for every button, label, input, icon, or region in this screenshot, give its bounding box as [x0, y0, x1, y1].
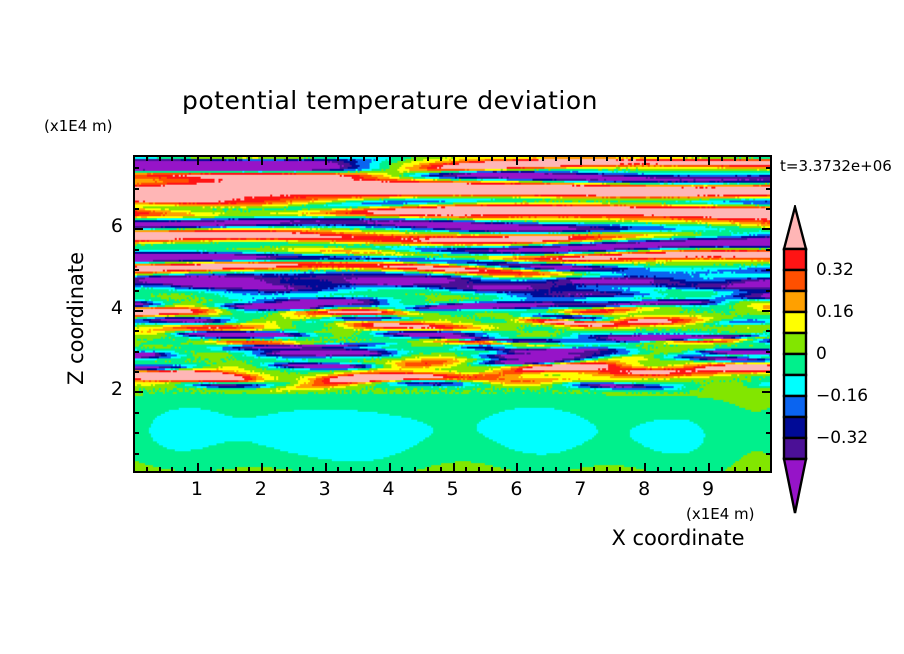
x-axis-minor-tick — [542, 155, 544, 161]
x-axis-minor-tick — [504, 155, 506, 161]
colorbar-tick-label: 0 — [816, 344, 827, 364]
y-axis-major-tick — [762, 228, 772, 230]
x-axis-minor-tick — [350, 467, 352, 473]
x-axis-minor-tick — [759, 155, 761, 161]
x-axis-minor-tick — [222, 155, 224, 161]
x-axis-minor-tick — [542, 467, 544, 473]
x-axis-minor-tick — [670, 155, 672, 161]
x-axis-major-tick — [325, 155, 327, 165]
colorbar-extend-bottom-arrow — [784, 459, 806, 513]
y-axis-minor-tick — [766, 208, 772, 210]
x-axis-minor-tick — [606, 467, 608, 473]
x-axis-minor-tick — [491, 467, 493, 473]
x-axis-minor-tick — [414, 155, 416, 161]
x-axis-minor-tick — [210, 467, 212, 473]
x-axis-minor-tick — [657, 155, 659, 161]
x-axis-minor-tick — [619, 155, 621, 161]
y-axis-minor-tick — [133, 432, 139, 434]
x-axis-minor-tick — [491, 155, 493, 161]
x-axis-major-tick — [516, 463, 518, 473]
colorbar-band — [784, 438, 806, 459]
y-axis-tick-label: 2 — [89, 378, 123, 400]
x-axis-minor-tick — [683, 155, 685, 161]
x-axis-minor-tick — [555, 467, 557, 473]
x-axis-major-tick — [644, 155, 646, 165]
x-axis-major-tick — [580, 155, 582, 165]
x-axis-minor-tick — [670, 467, 672, 473]
y-axis-major-tick — [762, 310, 772, 312]
y-axis-minor-tick — [766, 351, 772, 353]
x-axis-tick-label: 1 — [177, 478, 217, 500]
x-axis-minor-tick — [235, 467, 237, 473]
x-axis-minor-tick — [363, 467, 365, 473]
x-axis-minor-tick — [376, 155, 378, 161]
x-axis-minor-tick — [235, 155, 237, 161]
y-axis-minor-tick — [766, 432, 772, 434]
x-axis-minor-tick — [721, 467, 723, 473]
x-axis-minor-tick — [350, 155, 352, 161]
x-axis-major-tick — [389, 463, 391, 473]
x-axis-minor-tick — [274, 155, 276, 161]
x-axis-tick-label: 6 — [496, 478, 536, 500]
y-axis-minor-tick — [766, 330, 772, 332]
x-axis-minor-tick — [734, 467, 736, 473]
x-axis-minor-tick — [286, 467, 288, 473]
x-axis-minor-tick — [440, 467, 442, 473]
x-axis-minor-tick — [184, 155, 186, 161]
x-axis-minor-tick — [631, 155, 633, 161]
x-axis-minor-tick — [465, 155, 467, 161]
x-axis-minor-tick — [746, 467, 748, 473]
x-axis-major-tick — [708, 155, 710, 165]
x-axis-major-tick — [389, 155, 391, 165]
colorbar-tick-label: −0.32 — [816, 428, 868, 448]
x-axis-minor-tick — [401, 155, 403, 161]
x-axis-minor-tick — [146, 155, 148, 161]
y-axis-minor-tick — [133, 290, 139, 292]
x-axis-minor-tick — [363, 155, 365, 161]
x-axis-minor-tick — [683, 467, 685, 473]
z-axis-unit-label: (x1E4 m) — [44, 117, 113, 135]
y-axis-minor-tick — [766, 249, 772, 251]
x-axis-minor-tick — [759, 467, 761, 473]
colorbar-band — [784, 354, 806, 375]
x-axis-tick-label: 9 — [688, 478, 728, 500]
colorbar-band — [784, 270, 806, 291]
time-annotation: t=3.3732e+06 — [780, 157, 892, 175]
x-axis-minor-tick — [299, 155, 301, 161]
page-title: potential temperature deviation — [0, 86, 780, 115]
y-axis-minor-tick — [766, 371, 772, 373]
x-axis-title-text: X coordinate — [611, 526, 744, 550]
x-axis-minor-tick — [337, 155, 339, 161]
x-axis-minor-tick — [478, 467, 480, 473]
x-axis-minor-tick — [504, 467, 506, 473]
y-axis-major-tick — [133, 310, 143, 312]
x-axis-minor-tick — [478, 155, 480, 161]
x-axis-major-tick — [580, 463, 582, 473]
y-axis-minor-tick — [766, 188, 772, 190]
y-axis-major-tick — [133, 391, 143, 393]
figure-root: potential temperature deviation (x1E4 m)… — [0, 0, 904, 654]
x-axis-minor-tick — [312, 467, 314, 473]
x-axis-minor-tick — [299, 467, 301, 473]
x-axis-minor-tick — [529, 155, 531, 161]
x-axis-minor-tick — [593, 467, 595, 473]
colorbar-svg — [781, 205, 809, 515]
colorbar-tick-label: −0.16 — [816, 386, 868, 406]
x-axis-minor-tick — [721, 155, 723, 161]
x-axis-minor-tick — [529, 467, 531, 473]
y-axis-minor-tick — [133, 249, 139, 251]
colorbar-tick-label: 0.32 — [816, 260, 854, 280]
x-axis-minor-tick — [286, 155, 288, 161]
y-axis-minor-tick — [766, 412, 772, 414]
y-axis-minor-tick — [133, 330, 139, 332]
colorbar-band — [784, 333, 806, 354]
x-axis-unit-label: (x1E4 m) — [686, 505, 755, 523]
y-axis-minor-tick — [133, 167, 139, 169]
x-axis-minor-tick — [312, 155, 314, 161]
colorbar-band — [784, 249, 806, 270]
y-axis-minor-tick — [133, 188, 139, 190]
y-axis-minor-tick — [133, 412, 139, 414]
x-axis-minor-tick — [440, 155, 442, 161]
x-axis-major-tick — [261, 155, 263, 165]
y-axis-major-tick — [762, 391, 772, 393]
colorbar-band — [784, 417, 806, 438]
x-axis-minor-tick — [248, 155, 250, 161]
x-axis-minor-tick — [568, 467, 570, 473]
contour-plot-area — [133, 155, 772, 473]
x-axis-minor-tick — [657, 467, 659, 473]
x-axis-minor-tick — [427, 155, 429, 161]
x-axis-minor-tick — [593, 155, 595, 161]
y-axis-title: Z coordinate — [64, 218, 88, 418]
colorbar-band — [784, 396, 806, 417]
x-axis-major-tick — [644, 463, 646, 473]
x-axis-major-tick — [197, 155, 199, 165]
y-axis-minor-tick — [133, 269, 139, 271]
contour-field-canvas — [135, 157, 770, 471]
colorbar-extend-top-arrow — [784, 207, 806, 249]
x-axis-major-tick — [453, 155, 455, 165]
x-axis-minor-tick — [376, 467, 378, 473]
x-axis-minor-tick — [159, 155, 161, 161]
x-axis-major-tick — [708, 463, 710, 473]
y-axis-minor-tick — [766, 290, 772, 292]
y-axis-minor-tick — [766, 167, 772, 169]
x-axis-minor-tick — [171, 467, 173, 473]
x-axis-minor-tick — [146, 467, 148, 473]
x-axis-minor-tick — [222, 467, 224, 473]
colorbar-tick-label: 0.16 — [816, 302, 854, 322]
y-axis-minor-tick — [133, 453, 139, 455]
x-axis-tick-label: 4 — [369, 478, 409, 500]
y-axis-minor-tick — [133, 208, 139, 210]
x-axis-tick-label: 5 — [433, 478, 473, 500]
y-axis-tick-label: 6 — [89, 215, 123, 237]
x-axis-minor-tick — [746, 155, 748, 161]
x-axis-minor-tick — [695, 467, 697, 473]
y-axis-minor-tick — [766, 453, 772, 455]
x-axis-tick-label: 7 — [560, 478, 600, 500]
x-axis-minor-tick — [555, 155, 557, 161]
x-axis-major-tick — [516, 155, 518, 165]
colorbar-band — [784, 375, 806, 396]
x-axis-minor-tick — [606, 155, 608, 161]
colorbar-band — [784, 312, 806, 333]
x-axis-minor-tick — [171, 155, 173, 161]
x-axis-major-tick — [453, 463, 455, 473]
x-axis-minor-tick — [401, 467, 403, 473]
x-axis-minor-tick — [568, 155, 570, 161]
x-axis-minor-tick — [159, 467, 161, 473]
x-axis-minor-tick — [465, 467, 467, 473]
x-axis-minor-tick — [427, 467, 429, 473]
x-axis-tick-label: 3 — [305, 478, 345, 500]
colorbar — [781, 205, 809, 515]
colorbar-band — [784, 291, 806, 312]
x-axis-minor-tick — [210, 155, 212, 161]
y-axis-tick-label: 4 — [89, 297, 123, 319]
x-axis-minor-tick — [274, 467, 276, 473]
x-axis-minor-tick — [248, 467, 250, 473]
x-axis-minor-tick — [337, 467, 339, 473]
x-axis-tick-label: 2 — [241, 478, 281, 500]
x-axis-major-tick — [197, 463, 199, 473]
x-axis-minor-tick — [619, 467, 621, 473]
y-axis-major-tick — [133, 228, 143, 230]
x-axis-minor-tick — [414, 467, 416, 473]
y-axis-minor-tick — [766, 269, 772, 271]
y-axis-minor-tick — [133, 371, 139, 373]
x-axis-minor-tick — [734, 155, 736, 161]
x-axis-major-tick — [261, 463, 263, 473]
x-axis-title: X coordinate — [0, 526, 904, 550]
x-axis-tick-label: 8 — [624, 478, 664, 500]
y-axis-minor-tick — [133, 351, 139, 353]
x-axis-minor-tick — [695, 155, 697, 161]
x-axis-major-tick — [325, 463, 327, 473]
x-axis-minor-tick — [184, 467, 186, 473]
x-axis-minor-tick — [631, 467, 633, 473]
